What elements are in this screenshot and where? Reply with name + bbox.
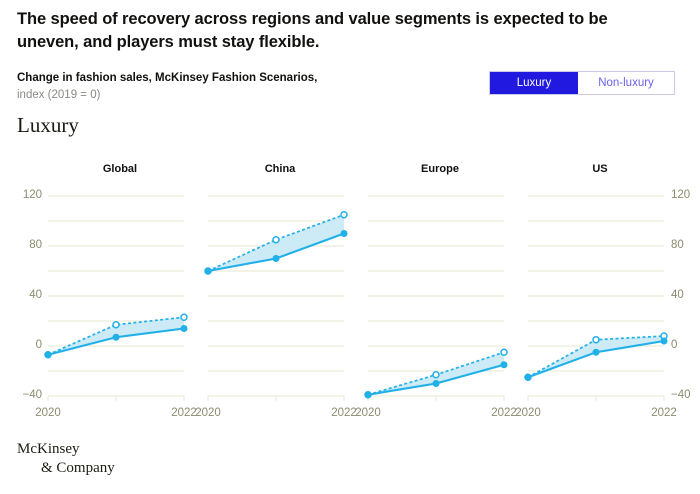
y-tick-label: 80	[29, 240, 42, 252]
data-point	[501, 362, 507, 368]
chart-panel-us: US2020202212080400−40	[520, 160, 680, 420]
chart-panel-china: China20202022	[200, 160, 360, 420]
data-point	[661, 338, 667, 344]
logo-line-2: & Company	[17, 459, 115, 478]
x-tick-label: 2020	[186, 408, 230, 420]
toggle-option-non-luxury[interactable]: Non-luxury	[578, 72, 674, 94]
data-point	[273, 256, 279, 262]
subtitle-line-1: Change in fashion sales, McKinsey Fashio…	[17, 70, 447, 87]
x-tick-label: 2020	[346, 408, 390, 420]
y-tick-label: 40	[29, 290, 42, 302]
x-tick-label: 2022	[642, 408, 686, 420]
panel-plot-global	[40, 160, 200, 420]
y-tick-label: 120	[23, 190, 42, 202]
data-point	[433, 372, 439, 378]
data-point	[501, 349, 507, 355]
panel-plot-europe	[360, 160, 520, 420]
data-point	[525, 374, 531, 380]
y-tick-label: −40	[22, 390, 42, 402]
chart-panel-europe: Europe20202022	[360, 160, 520, 420]
data-point	[433, 381, 439, 387]
data-point	[181, 314, 187, 320]
data-point	[365, 392, 371, 398]
logo-line-1: McKinsey	[17, 441, 80, 457]
subtitle-line-2: index (2019 = 0)	[17, 87, 447, 104]
small-multiples-container: Global2020202212080400−40China20202022Eu…	[0, 160, 700, 420]
data-point	[341, 231, 347, 237]
panel-plot-us	[520, 160, 680, 420]
chart-subtitle: Change in fashion sales, McKinsey Fashio…	[17, 70, 447, 103]
data-point	[205, 268, 211, 274]
page-headline: The speed of recovery across regions and…	[17, 8, 667, 55]
x-tick-label: 2020	[506, 408, 550, 420]
y-tick-label: 0	[36, 340, 42, 352]
mckinsey-logo: McKinsey & Company	[17, 440, 115, 478]
data-point	[45, 352, 51, 358]
data-point	[181, 326, 187, 332]
y-tick-label: 0	[671, 340, 677, 352]
data-point	[113, 334, 119, 340]
panel-plot-china	[200, 160, 360, 420]
y-tick-label: 80	[671, 240, 684, 252]
y-tick-label: 120	[671, 190, 690, 202]
x-tick-label: 2020	[26, 408, 70, 420]
segment-toggle[interactable]: Luxury Non-luxury	[489, 71, 675, 95]
y-tick-label: −40	[671, 390, 691, 402]
data-point	[341, 212, 347, 218]
toggle-option-luxury[interactable]: Luxury	[490, 72, 578, 94]
data-point	[593, 349, 599, 355]
data-point	[113, 322, 119, 328]
section-title: Luxury	[17, 113, 79, 138]
y-tick-label: 40	[671, 290, 684, 302]
data-point	[273, 237, 279, 243]
chart-panel-global: Global2020202212080400−40	[40, 160, 200, 420]
data-point	[593, 337, 599, 343]
